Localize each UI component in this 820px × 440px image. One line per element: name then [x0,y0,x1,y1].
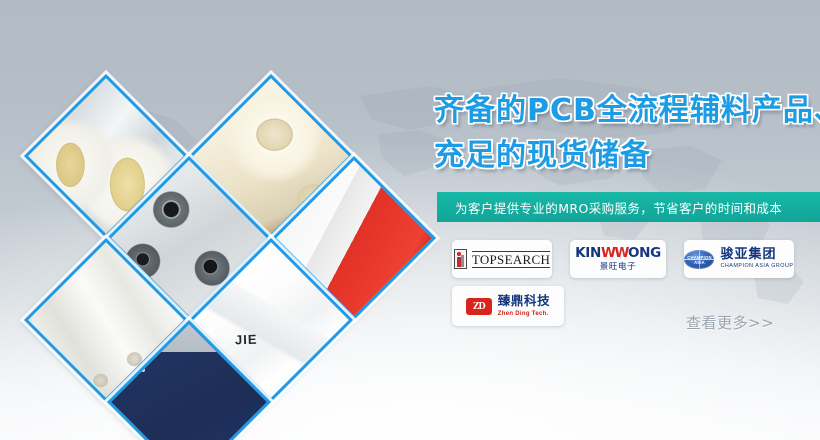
zhen-ding-en: Zhen Ding Tech. [498,311,550,317]
partner-logo-zhen-ding[interactable]: ZD 臻鼎科技 Zhen Ding Tech. [452,286,564,326]
view-more-link[interactable]: 查看更多>> [686,312,774,333]
tile-release-paper-label: JIE [235,332,258,348]
champion-asia-en: CHAMPION ASIA GROUP [720,264,793,269]
zhen-ding-cn: 臻鼎科技 [498,295,550,308]
partner-logo-topsearch[interactable]: TOPSEARCH [452,240,552,278]
subtitle-bar: 为客户提供专业的MRO采购服务，节省客户的时间和成本 [437,192,820,222]
headline-line-1: 齐备的PCB全流程辅料产品、 [434,88,820,133]
headline: 齐备的PCB全流程辅料产品、 充足的现货储备 [434,88,820,178]
topsearch-i-mark-icon [454,249,467,269]
kinwong-wordmark-cn: 景旺电子 [575,263,661,272]
headline-line-2: 充足的现货储备 [434,133,820,178]
champion-asia-globe-icon: CHAMPION ASIA [684,250,714,269]
subtitle-text: 为客户提供专业的MRO采购服务，节省客户的时间和成本 [437,198,782,217]
kinwong-wordmark: KINWWONG [575,247,661,261]
zhen-ding-square-icon: ZD [466,298,492,315]
product-diamond-collage: JIE [0,0,430,440]
promo-banner: JIE 齐备的PCB全流程辅料产品、 充足的现货储备 为客户提供专业的MRO采购… [0,0,820,440]
topsearch-wordmark: TOPSEARCH [472,251,550,268]
champion-asia-cn: 骏亚集团 [720,248,793,261]
partner-logo-kinwong[interactable]: KINWWONG 景旺电子 [570,240,666,278]
partner-logo-row-1: TOPSEARCH KINWWONG 景旺电子 CHAMPION ASIA 骏亚… [452,240,820,278]
partner-logo-champion-asia[interactable]: CHAMPION ASIA 骏亚集团 CHAMPION ASIA GROUP [684,240,794,278]
